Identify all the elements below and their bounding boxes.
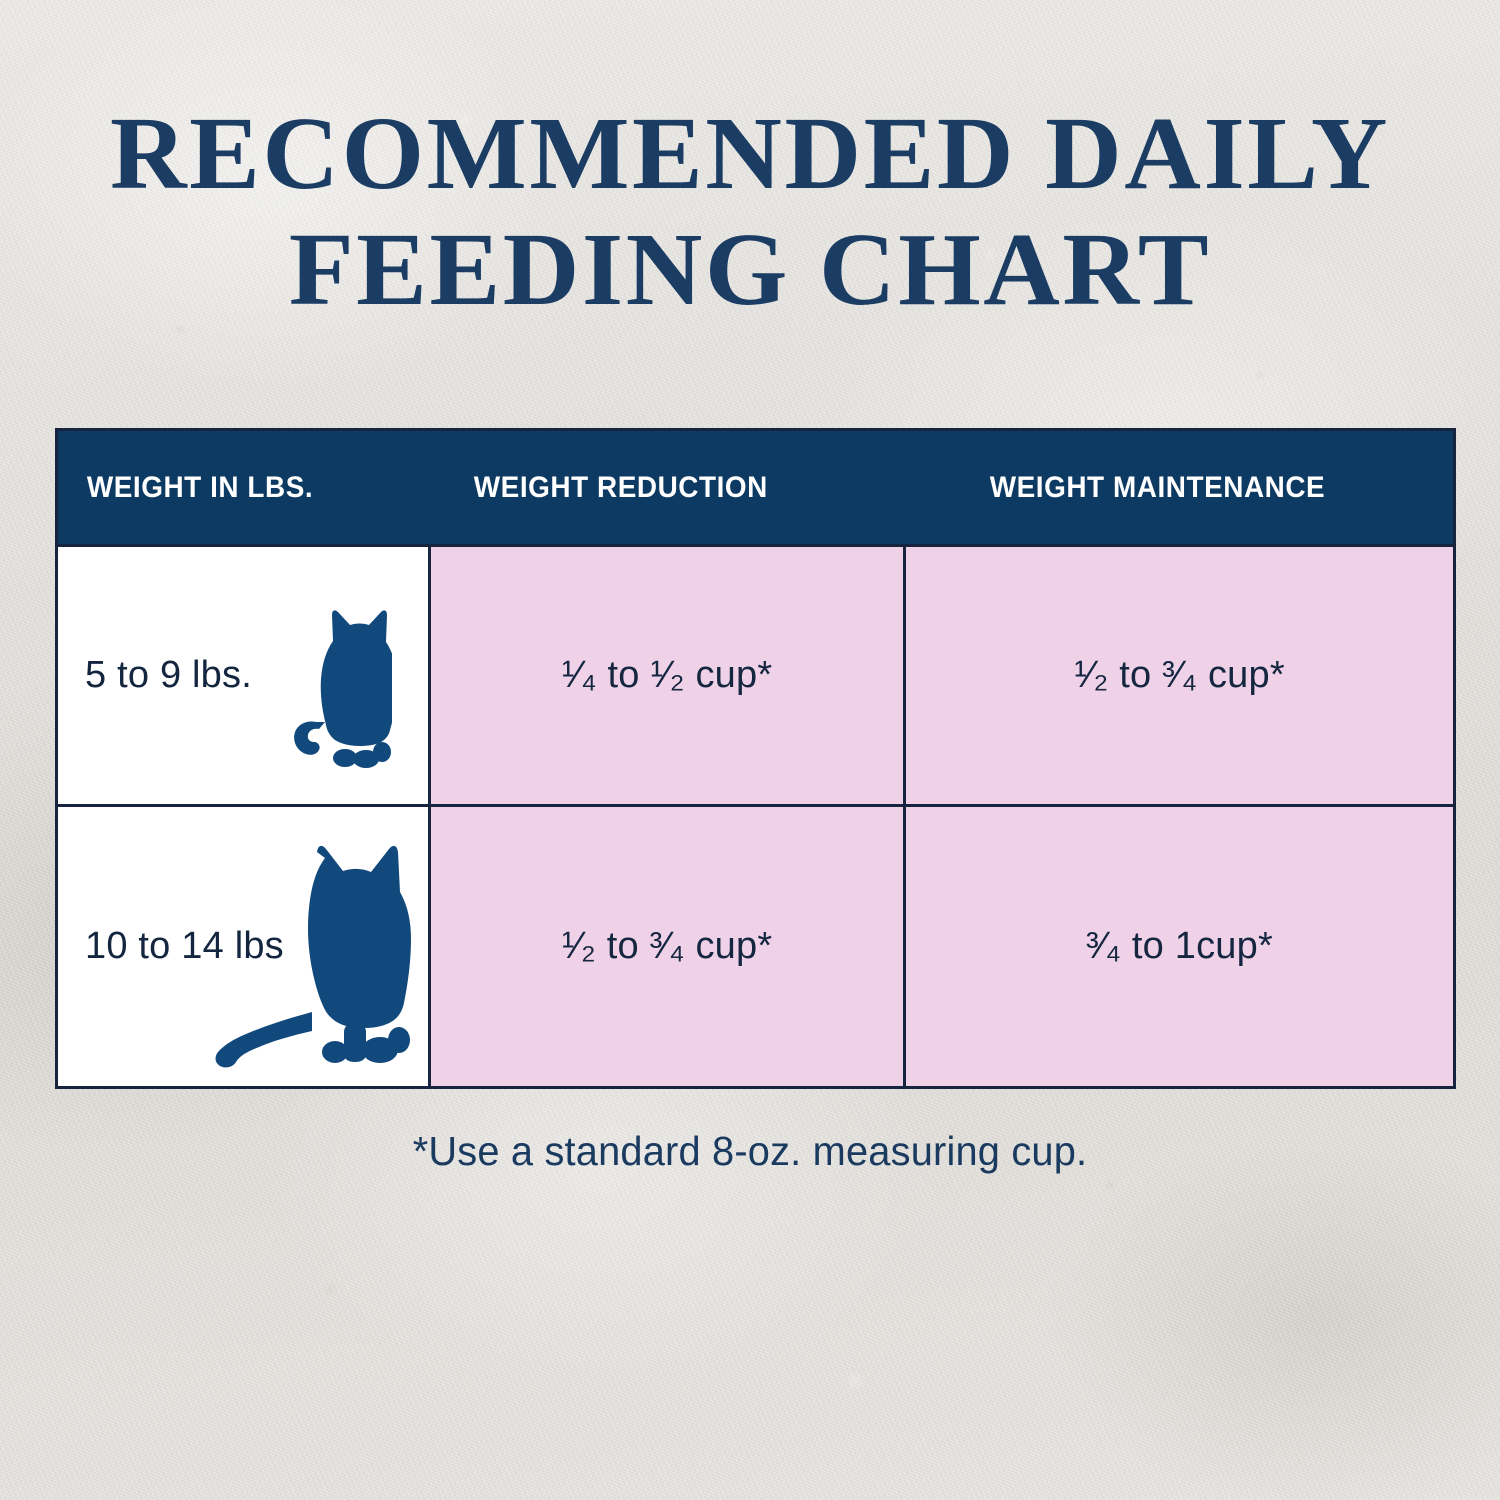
weight-reduction-label-row-2: ¹⁄₂ to ³⁄₄ cup* — [562, 925, 773, 968]
footnote-text: *Use a standard 8-oz. measuring cup. — [23, 1128, 1478, 1175]
weight-reduction-label-row-1: ¹⁄₄ to ¹⁄₂ cup* — [562, 654, 773, 697]
page-title: RECOMMENDED DAILY FEEDING CHART — [0, 96, 1500, 328]
column-header-weight-reduction: WEIGHT REDUCTION — [431, 471, 873, 505]
weight-maintenance-cell-row-1: ¹⁄₂ to ³⁄₄ cup* — [906, 547, 1453, 804]
weight-cell-row-2: 10 to 14 lbs — [58, 807, 431, 1086]
table-row: 10 to 14 lbs — [58, 804, 1453, 1086]
weight-maintenance-label-row-2: ³⁄₄ to 1cup* — [1086, 925, 1273, 968]
weight-label-row-2: 10 to 14 lbs — [85, 925, 284, 968]
weight-maintenance-cell-row-2: ³⁄₄ to 1cup* — [906, 807, 1453, 1086]
page-title-line-1: RECOMMENDED DAILY — [0, 96, 1500, 212]
weight-maintenance-label-row-1: ¹⁄₂ to ³⁄₄ cup* — [1074, 654, 1285, 697]
cat-sitting-back-small-icon — [276, 606, 392, 776]
weight-reduction-cell-row-2: ¹⁄₂ to ³⁄₄ cup* — [431, 807, 906, 1086]
page-title-line-2: FEEDING CHART — [0, 212, 1500, 328]
table-row: 5 to 9 lbs. — [58, 544, 1453, 804]
weight-cell-row-1: 5 to 9 lbs. — [58, 547, 431, 804]
weight-label-row-1: 5 to 9 lbs. — [85, 654, 252, 697]
table-header-row: WEIGHT IN LBS. WEIGHT REDUCTION WEIGHT M… — [58, 431, 1453, 544]
weight-reduction-cell-row-1: ¹⁄₄ to ¹⁄₂ cup* — [431, 547, 906, 804]
feeding-chart-page: RECOMMENDED DAILY FEEDING CHART WEIGHT I… — [0, 0, 1500, 1500]
feeding-table: WEIGHT IN LBS. WEIGHT REDUCTION WEIGHT M… — [55, 428, 1456, 1089]
column-header-weight-maintenance: WEIGHT MAINTENANCE — [906, 471, 1415, 505]
column-header-weight: WEIGHT IN LBS. — [58, 471, 405, 505]
